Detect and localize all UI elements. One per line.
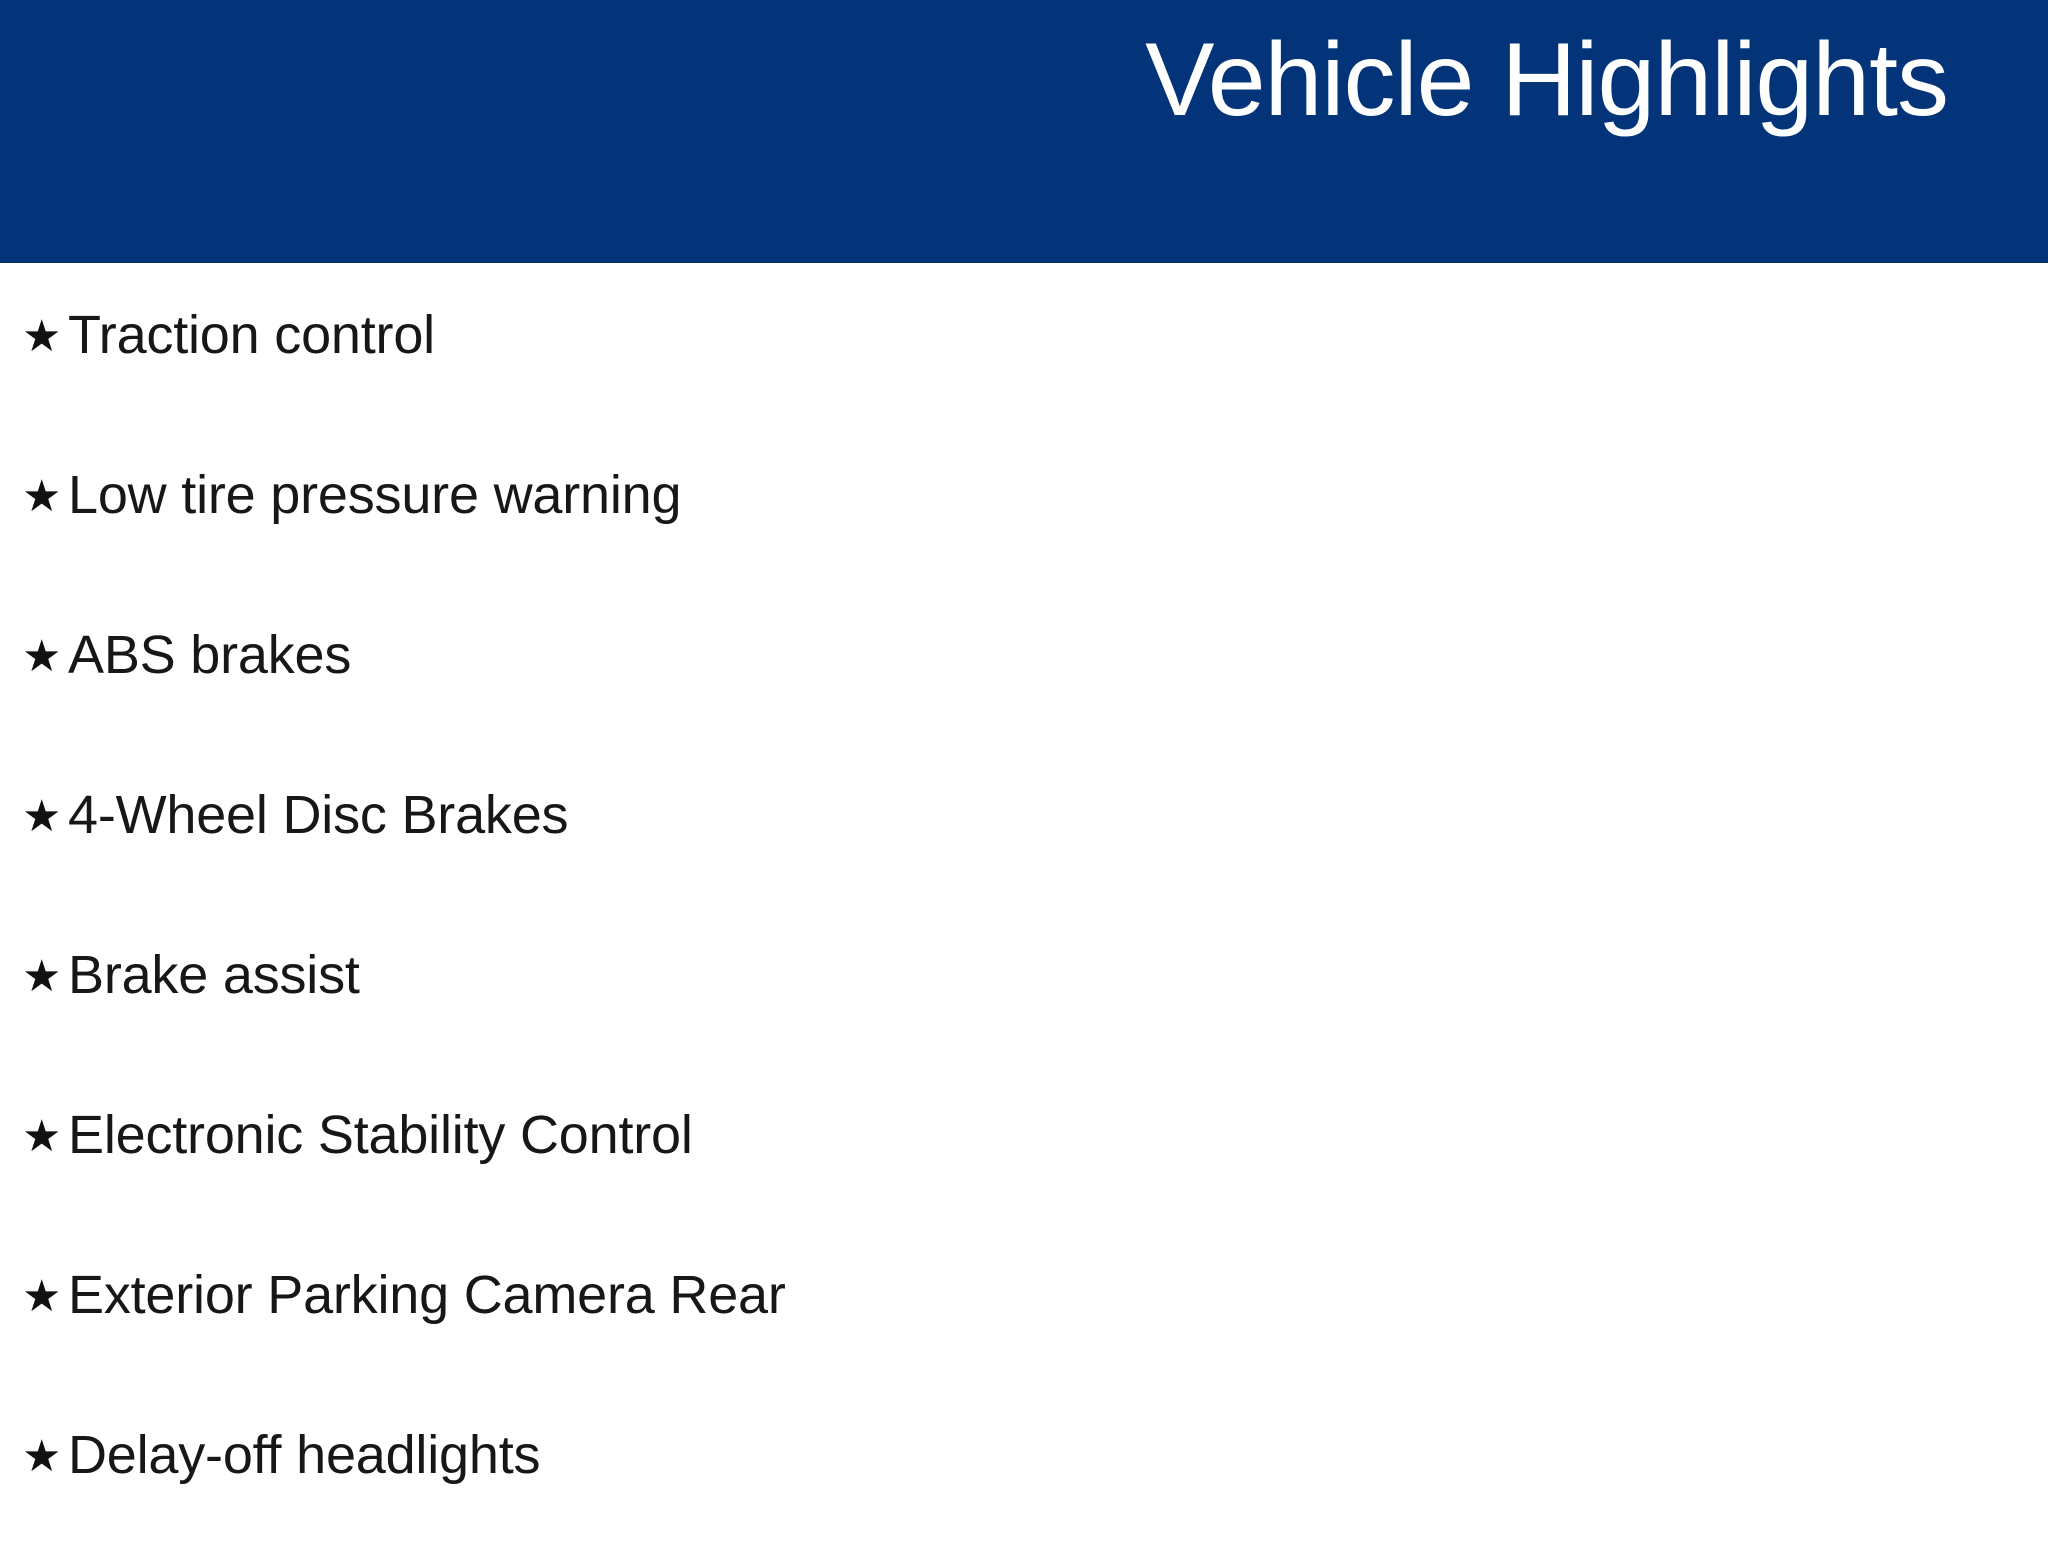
vehicle-highlights-slide: Vehicle Highlights ★ Traction control ★ … <box>0 0 2048 1536</box>
star-icon: ★ <box>22 955 68 999</box>
header-banner: Vehicle Highlights <box>0 0 2048 262</box>
list-item-label: Electronic Stability Control <box>68 1108 693 1162</box>
list-item-label: 4-Wheel Disc Brakes <box>68 788 568 842</box>
list-item: ★ Traction control <box>0 262 2048 422</box>
list-item: ★ Exterior Parking Camera Rear <box>0 1222 2048 1382</box>
list-item-label: Brake assist <box>68 948 360 1002</box>
list-item-label: Exterior Parking Camera Rear <box>68 1268 786 1322</box>
star-icon: ★ <box>22 315 68 359</box>
star-icon: ★ <box>22 635 68 679</box>
list-item-label: Traction control <box>68 308 435 362</box>
list-item-label: ABS brakes <box>68 628 351 682</box>
star-icon: ★ <box>22 1115 68 1159</box>
list-item-label: Low tire pressure warning <box>68 468 681 522</box>
star-icon: ★ <box>22 475 68 519</box>
vehicle-highlights-list: ★ Traction control ★ Low tire pressure w… <box>0 262 2048 1542</box>
star-icon: ★ <box>22 1435 68 1479</box>
star-icon: ★ <box>22 795 68 839</box>
list-item: ★ 4-Wheel Disc Brakes <box>0 742 2048 902</box>
list-item-label: Delay-off headlights <box>68 1428 540 1482</box>
list-item: ★ ABS brakes <box>0 582 2048 742</box>
star-icon: ★ <box>22 1275 68 1319</box>
list-item: ★ Electronic Stability Control <box>0 1062 2048 1222</box>
list-item: ★ Brake assist <box>0 902 2048 1062</box>
list-item: ★ Low tire pressure warning <box>0 422 2048 582</box>
list-item: ★ Delay-off headlights <box>0 1382 2048 1542</box>
page-title: Vehicle Highlights <box>1145 28 1948 132</box>
